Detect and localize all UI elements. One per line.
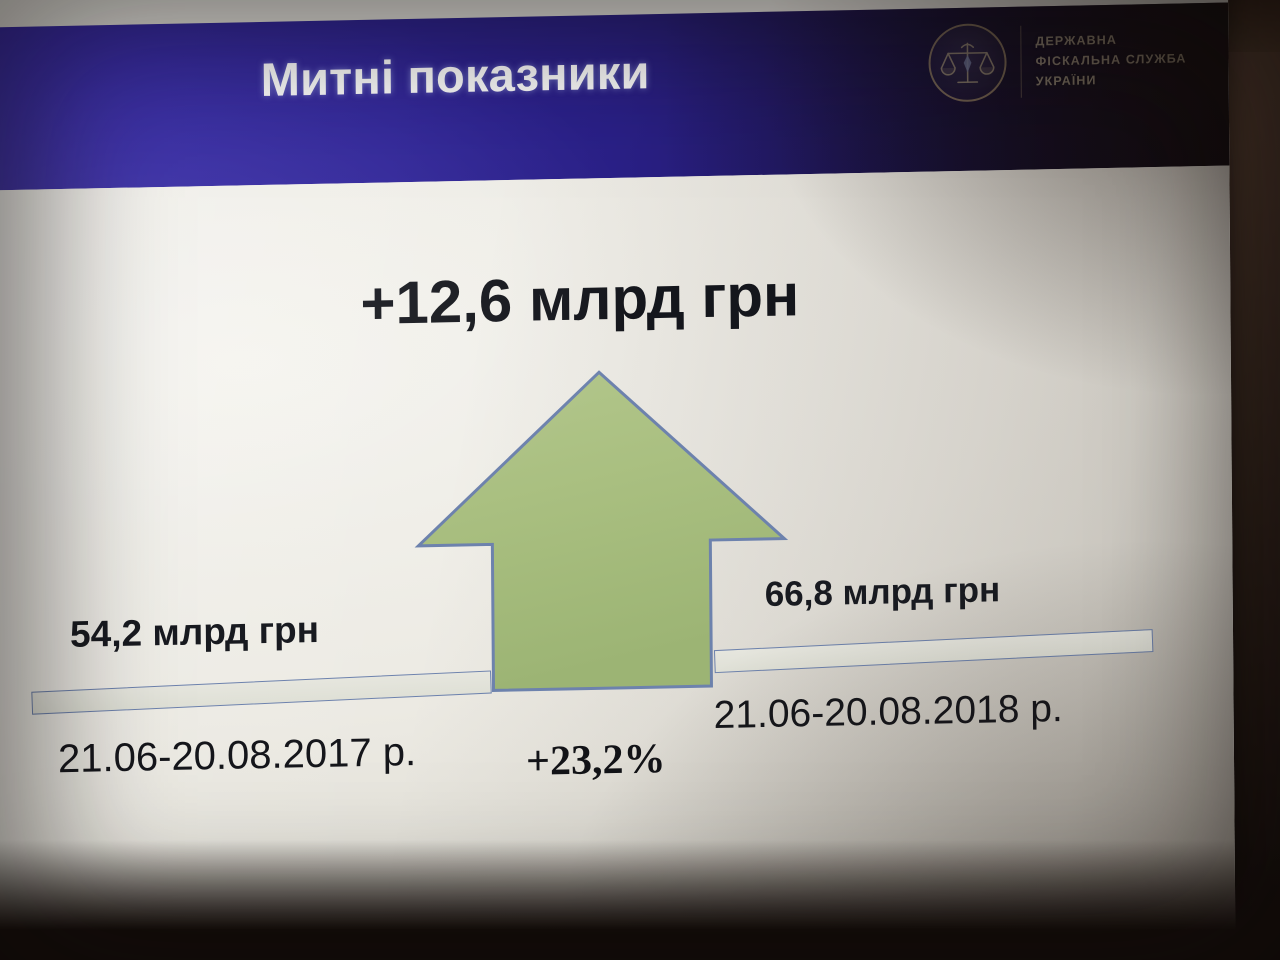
agency-line-1: ДЕРЖАВНА xyxy=(1035,31,1186,48)
bar-2017 xyxy=(31,670,491,714)
period-label-2017: 21.06-20.08.2017 р. xyxy=(58,730,416,782)
agency-line-2: ФІСКАЛЬНА СЛУЖБА xyxy=(1036,51,1187,68)
monitor-screen: Митні показники xyxy=(0,0,1236,960)
headline-absolute-change: +12,6 млрд грн xyxy=(360,260,799,338)
scales-emblem-icon xyxy=(928,23,1007,103)
period-label-2018: 21.06-20.08.2018 р. xyxy=(714,687,1063,738)
logo-divider xyxy=(1020,26,1022,98)
value-label-2018: 66,8 млрд грн xyxy=(765,570,1001,615)
agency-logo: ДЕРЖАВНА ФІСКАЛЬНА СЛУЖБА УКРАЇНИ xyxy=(928,19,1187,102)
photo-scene: Митні показники xyxy=(0,0,1280,960)
value-label-2017: 54,2 млрд грн xyxy=(70,609,319,656)
page-title: Митні показники xyxy=(261,44,650,107)
growth-percent-label: +23,2% xyxy=(526,735,666,786)
backdrop-bottom-shadow xyxy=(0,840,1280,960)
agency-name: ДЕРЖАВНА ФІСКАЛЬНА СЛУЖБА УКРАЇНИ xyxy=(1035,31,1186,88)
agency-line-3: УКРАЇНИ xyxy=(1036,71,1187,88)
